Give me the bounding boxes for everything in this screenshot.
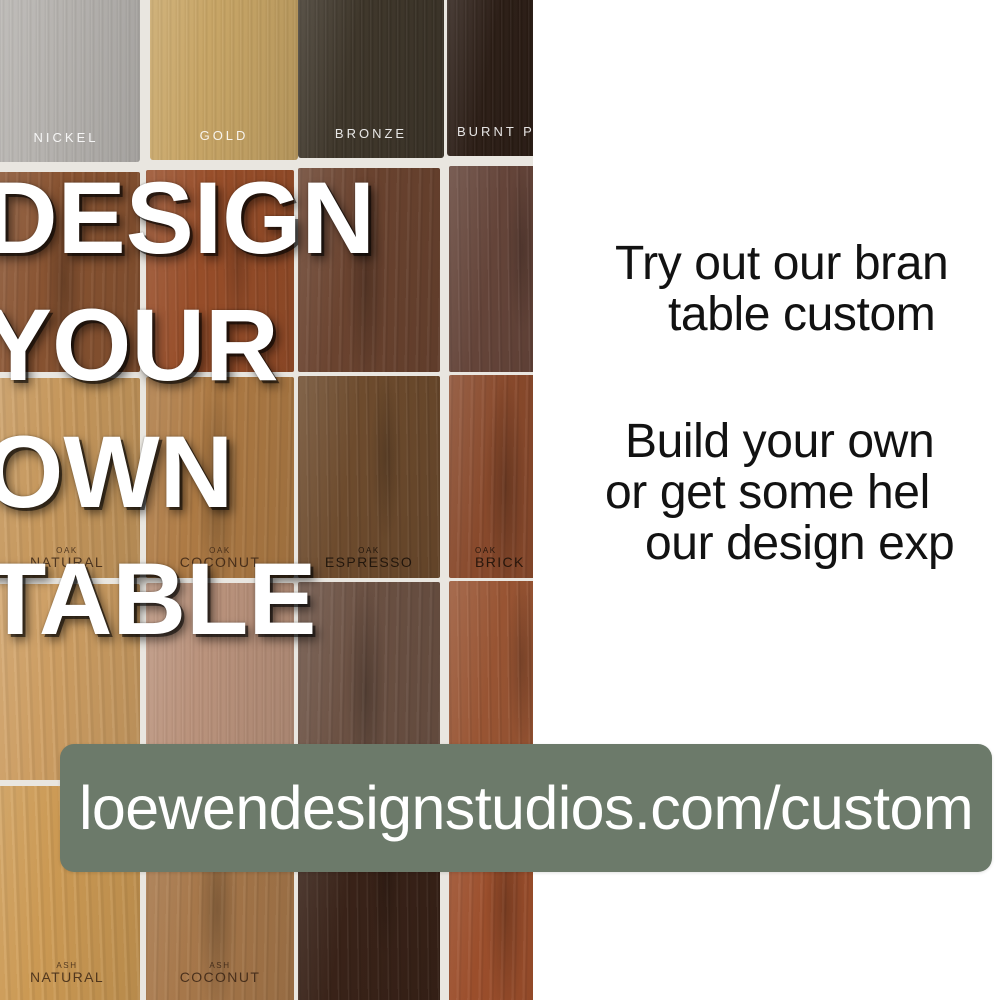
wood-sheen (0, 378, 140, 578)
wood-sheen (449, 375, 533, 578)
wood-sheen (146, 170, 294, 372)
swatch-wood-r1c1 (0, 172, 140, 372)
copy-paragraph-gap (545, 340, 1000, 416)
swatch-gold: GOLD (150, 0, 298, 160)
wood-sheen (146, 377, 294, 578)
copy-line-3: Build your own (545, 416, 1000, 467)
metal-sheen (447, 0, 533, 156)
wood-sheen (298, 376, 440, 578)
swatch-oak-espresso: OAK ESPRESSO (298, 376, 440, 578)
website-url-text: loewendesignstudios.com/custom (79, 778, 973, 839)
copy-line-1: Try out our bran (545, 238, 1000, 289)
copy-line-4: or get some hel (545, 467, 1000, 518)
website-url-banner[interactable]: loewendesignstudios.com/custom (60, 744, 992, 872)
promo-graphic: NICKEL GOLD BRONZE BURNT P (0, 0, 1000, 1000)
marketing-copy: Try out our bran table custom Build your… (545, 238, 1000, 569)
copy-line-2: table custom (545, 289, 1000, 340)
swatch-nickel: NICKEL (0, 0, 140, 162)
swatch-wood-r1c2 (146, 170, 294, 372)
swatch-oak-brick: OAK BRICK (449, 375, 533, 578)
metal-sheen (0, 0, 140, 162)
swatch-burnt-penny: BURNT P (447, 0, 533, 156)
swatch-wood-r1c4 (449, 166, 533, 372)
swatch-bronze: BRONZE (298, 0, 444, 158)
metal-sheen (150, 0, 298, 160)
wood-sheen (298, 168, 440, 372)
metal-sheen (298, 0, 444, 158)
wood-sheen (0, 172, 140, 372)
wood-sheen (449, 166, 533, 372)
swatch-oak-coconut: OAK COCONUT (146, 377, 294, 578)
copy-line-5: our design exp (545, 518, 1000, 569)
swatch-oak-natural: OAK NATURAL (0, 378, 140, 578)
swatch-wood-r1c3 (298, 168, 440, 372)
